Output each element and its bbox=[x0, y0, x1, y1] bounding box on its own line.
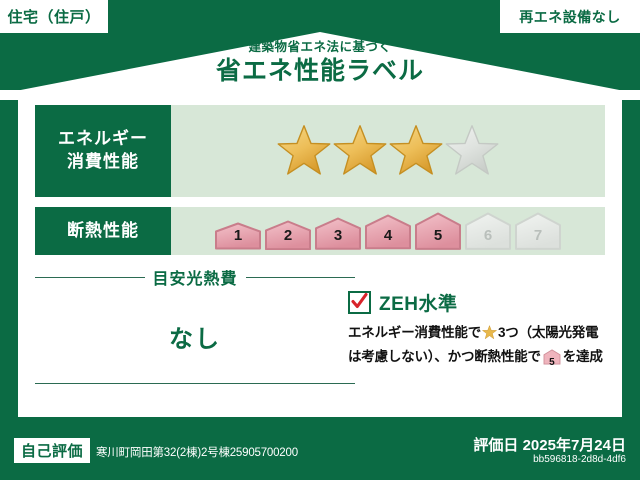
title-block: 建築物省エネ法に基づく 省エネ性能ラベル bbox=[0, 40, 640, 87]
zeh-desc-part3: を達成 bbox=[563, 349, 603, 364]
house-grade-6: 6 bbox=[464, 212, 512, 250]
energy-label-line2: 消費性能 bbox=[67, 151, 139, 174]
house-grade-4: 4 bbox=[364, 214, 412, 250]
title-subtitle: 建築物省エネ法に基づく bbox=[0, 40, 640, 55]
inline-house-icon: 5 bbox=[543, 349, 561, 372]
house-grade-scale: 1234567 bbox=[214, 212, 562, 250]
insulation-performance-row: 断熱性能 1234567 bbox=[35, 207, 605, 255]
self-evaluation-badge: 自己評価 bbox=[14, 438, 90, 463]
house-grade-number: 6 bbox=[464, 227, 512, 244]
zeh-desc-part2: は考慮しない）、かつ断熱性能で bbox=[348, 349, 541, 364]
star-rating bbox=[276, 123, 500, 179]
star-filled-icon bbox=[276, 123, 332, 179]
insulation-performance-value: 1234567 bbox=[171, 207, 605, 255]
star-empty-icon bbox=[444, 123, 500, 179]
inline-house-grade: 5 bbox=[543, 355, 561, 371]
property-address: 寒川町岡田第32(2棟)2号棟25905700200 bbox=[96, 444, 298, 460]
zeh-title: ZEH水準 bbox=[379, 289, 458, 316]
star-filled-icon bbox=[332, 123, 388, 179]
house-grade-1: 1 bbox=[214, 222, 262, 250]
zeh-checkbox[interactable] bbox=[348, 291, 371, 314]
rule-right bbox=[246, 277, 356, 278]
house-grade-number: 2 bbox=[264, 227, 312, 244]
check-icon bbox=[351, 292, 368, 312]
utility-cost-heading-label: 目安光熱費 bbox=[153, 265, 238, 289]
energy-performance-label: 住宅（住戸） 再エネ設備なし 建築物省エネ法に基づく 省エネ性能ラベル エネルギ… bbox=[0, 0, 640, 480]
label-card: エネルギー 消費性能 断熱性能 1234567 目安光熱費 なし bbox=[18, 95, 622, 417]
zeh-desc-part1: エネルギー消費性能で bbox=[348, 325, 481, 340]
house-grade-number: 3 bbox=[314, 227, 362, 244]
utility-cost-block: 目安光熱費 なし bbox=[35, 265, 355, 354]
house-grade-number: 4 bbox=[364, 227, 412, 244]
page-title: 省エネ性能ラベル bbox=[0, 56, 640, 87]
building-type-label: 住宅（住戸） bbox=[7, 6, 100, 27]
evaluation-date: 評価日 2025年7月24日 bbox=[473, 434, 626, 455]
evaluation-id: bb596818-2d8d-4df6 bbox=[533, 454, 626, 465]
rule-left bbox=[35, 277, 145, 278]
energy-performance-value bbox=[171, 105, 605, 197]
house-grade-5: 5 bbox=[414, 212, 462, 250]
footer: 自己評価 寒川町岡田第32(2棟)2号棟25905700200 評価日 2025… bbox=[0, 420, 640, 480]
zeh-desc-stars: 3つ（太陽光発電 bbox=[498, 325, 598, 340]
zeh-heading: ZEH水準 bbox=[348, 289, 616, 316]
renewable-energy-label: 再エネ設備なし bbox=[519, 7, 621, 27]
utility-cost-heading: 目安光熱費 bbox=[35, 265, 355, 289]
energy-label-line1: エネルギー bbox=[58, 128, 148, 151]
house-grade-number: 7 bbox=[514, 227, 562, 244]
house-grade-3: 3 bbox=[314, 217, 362, 250]
inline-star-icon bbox=[482, 325, 497, 347]
zeh-description: エネルギー消費性能で 3つ（太陽光発電 は考慮しない）、かつ断熱性能で 5を達成 bbox=[348, 323, 616, 372]
star-filled-icon bbox=[388, 123, 444, 179]
building-type-tag: 住宅（住戸） bbox=[0, 0, 108, 33]
energy-performance-label-box: エネルギー 消費性能 bbox=[35, 105, 171, 197]
house-grade-7: 7 bbox=[514, 212, 562, 250]
house-grade-2: 2 bbox=[264, 220, 312, 251]
house-grade-number: 5 bbox=[414, 227, 462, 244]
utility-cost-value: なし bbox=[35, 319, 355, 354]
utility-cost-bottom-rule bbox=[35, 383, 355, 384]
insulation-performance-label-box: 断熱性能 bbox=[35, 207, 171, 255]
insulation-label: 断熱性能 bbox=[67, 220, 139, 243]
house-grade-number: 1 bbox=[214, 227, 262, 244]
renewable-energy-tag: 再エネ設備なし bbox=[500, 0, 640, 33]
energy-performance-row: エネルギー 消費性能 bbox=[35, 105, 605, 197]
zeh-block: ZEH水準 エネルギー消費性能で 3つ（太陽光発電 は考慮しない）、かつ断熱性能… bbox=[348, 289, 616, 372]
